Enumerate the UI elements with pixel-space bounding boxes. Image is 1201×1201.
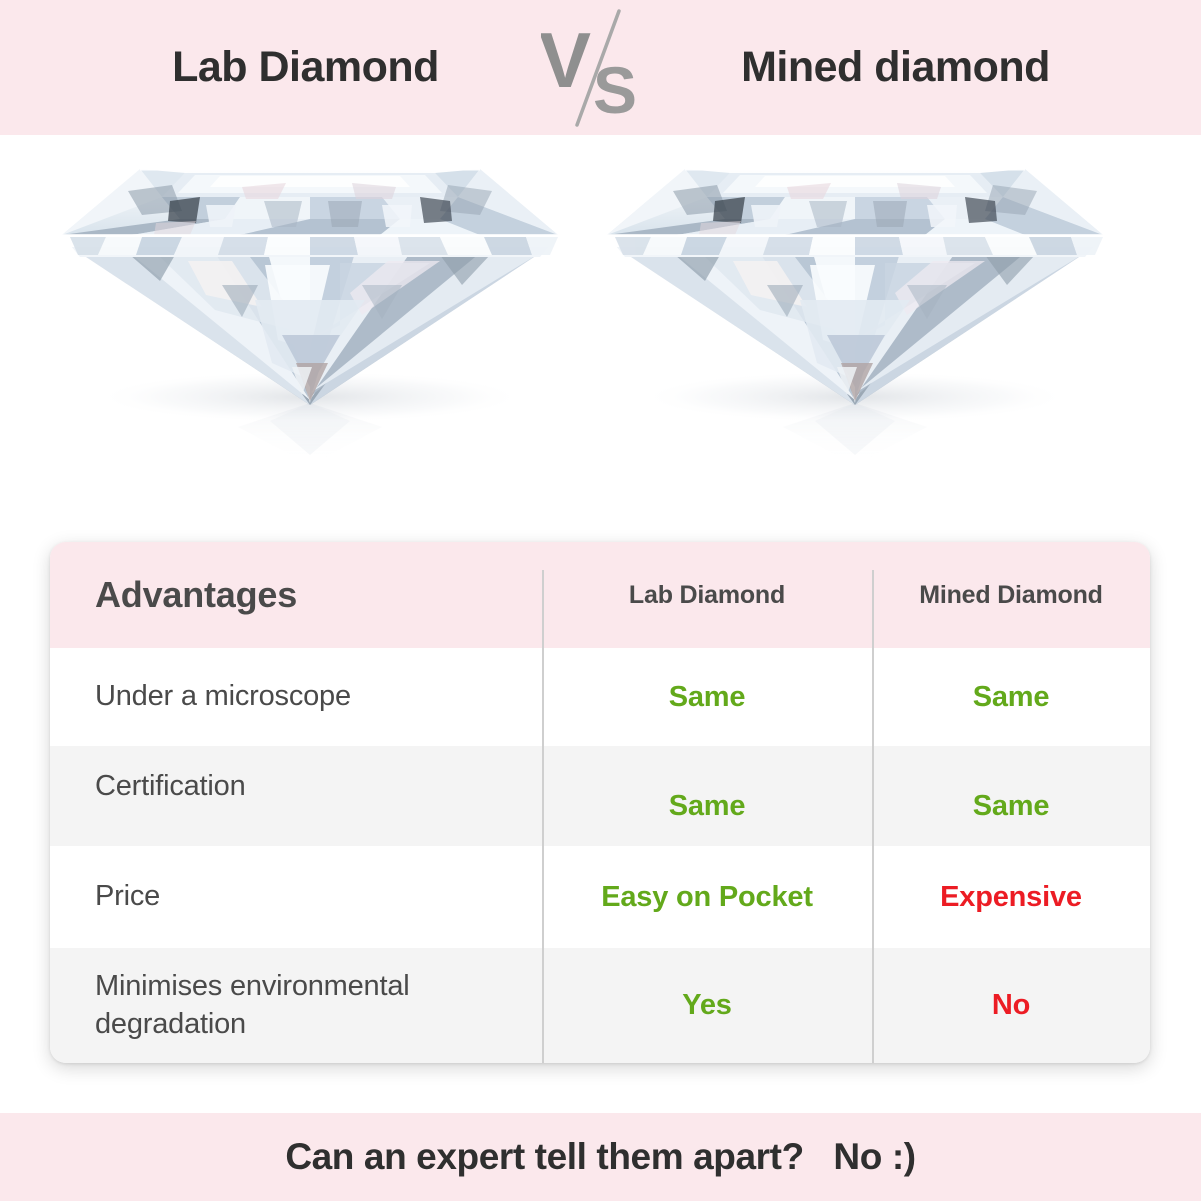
table-header-row: Advantages Lab Diamond Mined Diamond — [50, 542, 1150, 648]
row-feature-cell: Certification — [50, 768, 542, 824]
row-lab-cell: Same — [542, 770, 872, 823]
header-title-lab: Lab Diamond — [71, 43, 541, 92]
row-feature-cell: Minimises environmental degradation — [50, 968, 542, 1043]
row-mined-value: Same — [973, 681, 1050, 714]
header-band: Lab Diamond V S Mined diamond — [0, 0, 1201, 135]
table-row: Certification Same Same — [50, 746, 1150, 846]
row-mined-cell: No — [872, 989, 1150, 1022]
table-body: Under a microscope Same Same Certificati… — [50, 648, 1150, 1063]
row-mined-value: Expensive — [940, 881, 1082, 914]
mined-diamond-image — [555, 135, 1155, 535]
footer-band: Can an expert tell them apart? No :) — [0, 1113, 1201, 1201]
column-divider-2 — [872, 570, 874, 1063]
row-feature-label: Minimises environmental degradation — [95, 968, 527, 1043]
vs-icon: V S — [541, 5, 661, 130]
comparison-table-card: Advantages Lab Diamond Mined Diamond Und… — [50, 542, 1150, 1063]
header-inner: Lab Diamond V S Mined diamond — [0, 8, 1201, 128]
table-header-lab-label: Lab Diamond — [629, 581, 785, 610]
table-header-advantages: Advantages — [50, 574, 542, 616]
row-feature-cell: Price — [50, 878, 542, 916]
footer-question: Can an expert tell them apart? No :) — [285, 1136, 915, 1178]
table-row: Under a microscope Same Same — [50, 648, 1150, 746]
row-lab-cell: Yes — [542, 989, 872, 1022]
table-header-advantages-label: Advantages — [95, 574, 297, 616]
lab-diamond-image — [10, 135, 610, 535]
diamond-illustration-right — [555, 135, 1155, 535]
table-header-mined-label: Mined Diamond — [919, 581, 1103, 610]
table-row: Minimises environmental degradation Yes … — [50, 948, 1150, 1063]
row-lab-value: Same — [669, 790, 746, 823]
table-header-lab: Lab Diamond — [542, 581, 872, 610]
row-mined-value: No — [992, 989, 1030, 1022]
diamond-illustration-left — [10, 135, 610, 535]
row-mined-value: Same — [973, 790, 1050, 823]
row-lab-cell: Same — [542, 681, 872, 714]
row-lab-cell: Easy on Pocket — [542, 881, 872, 914]
table-row: Price Easy on Pocket Expensive — [50, 846, 1150, 948]
row-mined-cell: Same — [872, 770, 1150, 823]
row-lab-value: Yes — [682, 989, 731, 1022]
row-lab-value: Same — [669, 681, 746, 714]
row-feature-label: Price — [95, 878, 160, 916]
row-mined-cell: Same — [872, 681, 1150, 714]
row-lab-value: Easy on Pocket — [601, 881, 813, 914]
infographic-page: Lab Diamond V S Mined diamond — [0, 0, 1201, 1201]
table-header-mined: Mined Diamond — [872, 581, 1150, 610]
svg-text:V: V — [541, 16, 591, 104]
column-divider-1 — [542, 570, 544, 1063]
row-feature-label: Under a microscope — [95, 678, 351, 716]
diamond-image-zone — [0, 135, 1201, 535]
row-feature-label: Certification — [95, 768, 246, 806]
row-feature-cell: Under a microscope — [50, 678, 542, 716]
vs-badge: V S — [541, 8, 661, 128]
row-mined-cell: Expensive — [872, 881, 1150, 914]
header-title-mined: Mined diamond — [661, 43, 1131, 92]
